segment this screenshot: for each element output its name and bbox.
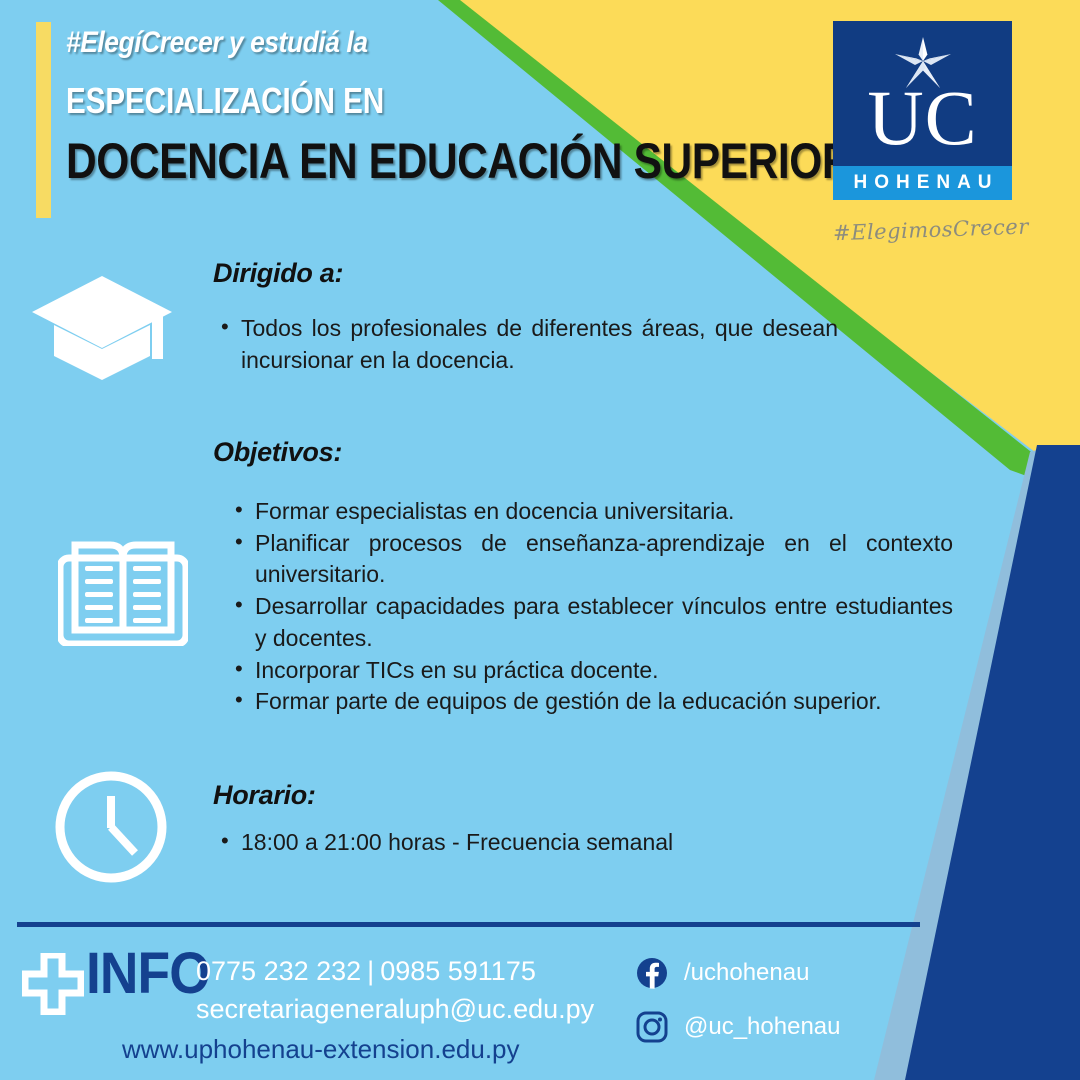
clock-icon [52, 768, 170, 886]
social-links: /uchohenau @uc_hohenau [636, 957, 841, 1065]
list-item: Formar parte de equipos de gestión de la… [255, 686, 953, 718]
footer-divider [17, 922, 920, 927]
list-item: Incorporar TICs en su práctica docente. [255, 655, 953, 687]
instagram-handle[interactable]: @uc_hohenau [684, 1013, 841, 1041]
phone-separator: | [361, 956, 380, 986]
list-item: 18:00 a 21:00 horas - Frecuencia semanal [241, 827, 853, 859]
section-heading-horario: Horario: [213, 780, 853, 811]
info-label: INFO [86, 945, 210, 1003]
phone-primary: 0775 232 232 [196, 956, 361, 986]
email-address[interactable]: secretariageneraluph@uc.edu.py [196, 990, 594, 1028]
yellow-accent-bar [36, 22, 51, 218]
open-book-icon [58, 538, 188, 646]
list-item: Desarrollar capacidades para establecer … [255, 591, 953, 654]
plus-icon [22, 953, 84, 1015]
website-url[interactable]: www.uphohenau-extension.edu.py [122, 1034, 520, 1065]
logo-campus-name: HOHENAU [833, 166, 1012, 200]
header-block: #ElegíCrecer y estudiá la ESPECIALIZACIÓ… [66, 26, 766, 190]
logo-initials: UC [833, 79, 1012, 157]
uc-hohenau-logo: UC HOHENAU [833, 21, 1012, 200]
objetivos-list: Formar especialistas en docencia univers… [213, 496, 953, 718]
info-block: INFO [22, 945, 221, 1015]
section-objetivos: Objetivos: Formar especialistas en docen… [213, 437, 953, 718]
list-item: Formar especialistas en docencia univers… [255, 496, 953, 528]
list-item: Planificar procesos de enseñanza-aprendi… [255, 528, 953, 591]
list-item: Todos los profesionales de diferentes ár… [241, 313, 838, 376]
header-kicker: #ElegíCrecer y estudiá la [66, 26, 682, 60]
dirigido-list: Todos los profesionales de diferentes ár… [213, 313, 838, 376]
poster-canvas: #ElegíCrecer y estudiá la ESPECIALIZACIÓ… [0, 0, 1080, 1080]
header-program-title: DOCENCIA EN EDUCACIÓN SUPERIOR [66, 132, 661, 190]
social-row-facebook[interactable]: /uchohenau [636, 957, 841, 989]
section-dirigido: Dirigido a: Todos los profesionales de d… [213, 258, 838, 378]
contact-block: 0775 232 232|0985 591175 secretariagener… [196, 952, 594, 1029]
header-program-type: ESPECIALIZACIÓN EN [66, 80, 640, 122]
social-row-instagram[interactable]: @uc_hohenau [636, 1011, 841, 1043]
section-heading-objetivos: Objetivos: [213, 437, 953, 468]
facebook-icon[interactable] [636, 957, 668, 989]
horario-list: 18:00 a 21:00 horas - Frecuencia semanal [213, 827, 853, 859]
facebook-handle[interactable]: /uchohenau [684, 959, 809, 987]
phone-line: 0775 232 232|0985 591175 [196, 952, 594, 990]
section-heading-dirigido: Dirigido a: [213, 258, 838, 289]
graduation-cap-icon [30, 272, 175, 382]
phone-secondary: 0985 591175 [380, 956, 536, 986]
section-horario: Horario: 18:00 a 21:00 horas - Frecuenci… [213, 780, 853, 861]
instagram-icon[interactable] [636, 1011, 668, 1043]
